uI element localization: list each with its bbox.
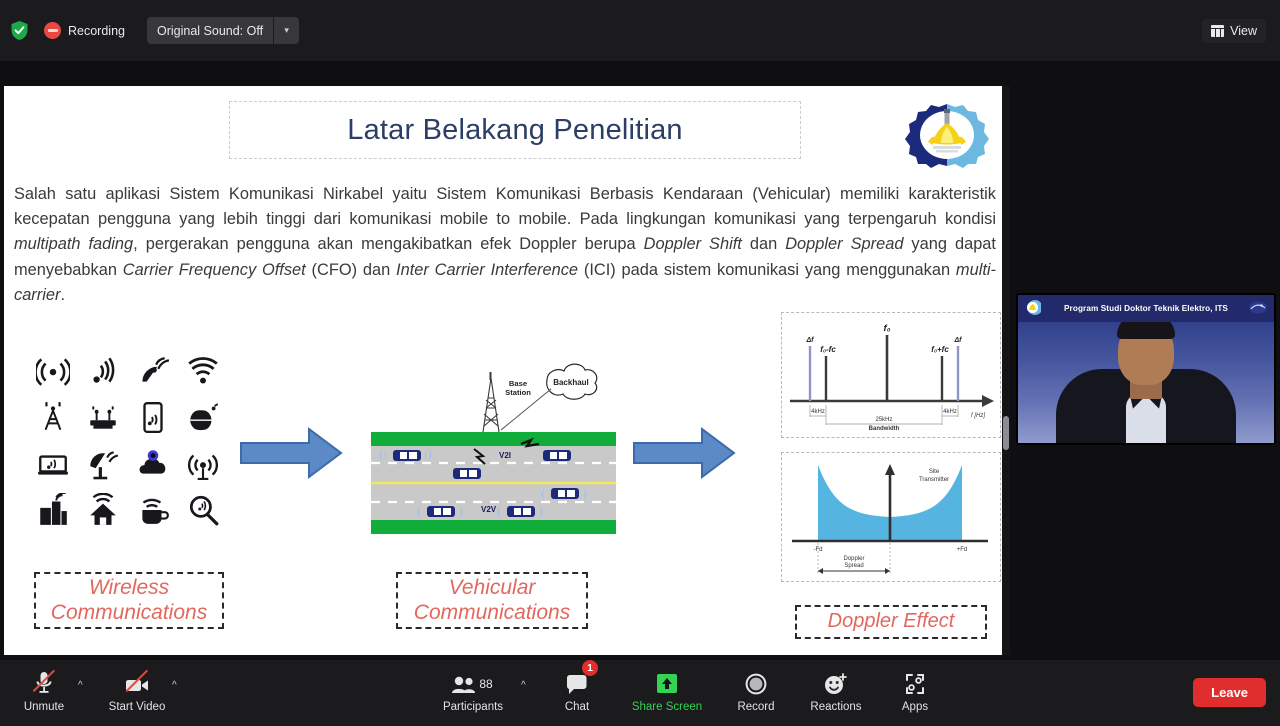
flow-arrow-right-2	[632, 425, 736, 486]
participants-label: Participants	[443, 701, 503, 713]
label-left-span: 4kHz	[811, 409, 825, 415]
body-run: (ICI) pada sistem komunikasi yang menggu…	[578, 261, 956, 279]
label-right-delta: Δf	[953, 337, 962, 344]
label-doppler-spread-2: Spread	[844, 563, 863, 569]
start-video-button[interactable]: Start Video	[94, 666, 180, 713]
body-run: .	[60, 286, 65, 304]
body-run: (CFO) dan	[306, 261, 396, 279]
label-axis: f [Hz]	[971, 413, 985, 419]
virtual-background-banner: Program Studi Doktor Teknik Elektro, ITS	[1018, 295, 1274, 322]
label-f0: f₀	[884, 323, 891, 334]
svg-text:Backhaul: Backhaul	[553, 378, 589, 387]
people-icon: 88	[450, 666, 496, 696]
caption-wireless-line2: Communications	[51, 601, 207, 624]
grid-view-icon	[1211, 25, 1224, 37]
vehicular-communication-diagram: Backhaul Base Station V2I V2V	[371, 356, 616, 534]
apps-button[interactable]: Apps	[872, 666, 958, 713]
search-signal-icon	[186, 493, 220, 527]
record-circle-icon	[744, 666, 768, 696]
label-bandwidth-value: 25kHz	[875, 417, 892, 423]
video-options-caret[interactable]: ^	[172, 680, 177, 691]
reactions-button[interactable]: Reactions	[793, 666, 879, 713]
chat-button[interactable]: 1 Chat	[534, 666, 620, 713]
body-emphasis: Inter Carrier Interference	[396, 261, 578, 279]
label-right-span: 4kHz	[943, 409, 957, 415]
share-screen-icon	[654, 666, 680, 696]
slide-body-text: Salah satu aplikasi Sistem Komunikasi Ni…	[14, 182, 996, 308]
body-emphasis: Doppler Shift	[644, 235, 742, 253]
recording-status[interactable]: Recording	[44, 22, 125, 39]
home-wifi-icon	[86, 493, 120, 527]
cloud-network-icon	[136, 447, 170, 481]
scrollbar-thumb[interactable]	[1003, 416, 1009, 450]
zoom-meeting-window: Recording Original Sound: Off ▾ View Lat…	[0, 0, 1280, 726]
body-run: Salah satu aplikasi Sistem Komunikasi Ni…	[14, 185, 996, 228]
label-left-delta: Δf	[805, 337, 814, 344]
body-emphasis: Doppler Spread	[785, 235, 903, 253]
body-run: , pergerakan pengguna akan mengakibatkan…	[133, 235, 643, 253]
satellite-dish-icon	[136, 354, 170, 388]
participants-button[interactable]: 88 Participants	[430, 666, 516, 713]
slide-scrollbar[interactable]	[1002, 86, 1010, 655]
speaker-video-tile[interactable]: Program Studi Doktor Teknik Elektro, ITS	[1016, 293, 1276, 445]
svg-text:Base: Base	[509, 379, 527, 388]
participants-count: 88	[479, 677, 493, 691]
caption-doppler-label: Doppler Effect	[828, 610, 955, 634]
apps-bracket-icon	[903, 666, 927, 696]
share-screen-button[interactable]: Share Screen	[624, 666, 710, 713]
smartphone-wifi-icon	[136, 400, 170, 434]
unmute-button[interactable]: Unmute	[1, 666, 87, 713]
slide-title-box: Latar Belakang Penelitian	[229, 101, 801, 159]
body-emphasis: multipath fading	[14, 235, 133, 253]
doppler-spectrum-chart: Δf Δf f₀-fс f₀+fс f₀ 4kHz 4kHz 25kHz Ban…	[781, 312, 1001, 438]
view-button[interactable]: View	[1202, 19, 1266, 43]
city-buildings-icon	[36, 493, 70, 527]
broadcast-tower-icon	[186, 447, 220, 481]
leave-button[interactable]: Leave	[1193, 678, 1266, 707]
coffee-cup-wifi-icon	[136, 493, 170, 527]
globe-signal-icon	[186, 400, 220, 434]
wireless-icons-panel	[28, 348, 228, 533]
participants-options-caret[interactable]: ^	[521, 680, 526, 691]
flow-arrow-right-1	[239, 425, 343, 486]
caption-vehicular-communications: Vehicular Communications	[396, 572, 588, 629]
slide-title: Latar Belakang Penelitian	[347, 114, 683, 147]
label-site-transmitter-2: Transmitter	[919, 477, 949, 483]
department-logo-small	[1248, 300, 1268, 315]
meeting-top-bar: Recording Original Sound: Off ▾ View	[0, 0, 1280, 61]
chat-label: Chat	[565, 701, 589, 713]
camera-muted-icon	[124, 666, 150, 696]
share-screen-label: Share Screen	[632, 701, 702, 713]
body-emphasis: Carrier Frequency Offset	[123, 261, 306, 279]
caption-vehicular-line1: Vehicular	[449, 576, 536, 599]
chat-unread-badge: 1	[582, 660, 598, 676]
original-sound-control[interactable]: Original Sound: Off ▾	[147, 17, 299, 44]
svg-text:V2I: V2I	[499, 451, 511, 460]
label-plus-fd: +Fd	[957, 547, 968, 553]
caption-vehicular-line2: Communications	[414, 601, 570, 624]
caption-wireless-communications: Wireless Communications	[34, 572, 224, 629]
reactions-label: Reactions	[810, 701, 861, 713]
its-logo-small	[1024, 299, 1041, 316]
recording-indicator-icon	[44, 22, 61, 39]
meeting-control-bar: Unmute ^ Start Video ^ 88	[0, 660, 1280, 726]
recording-label: Recording	[68, 24, 125, 38]
wifi-icon	[186, 354, 220, 388]
record-button[interactable]: Record	[713, 666, 799, 713]
antenna-waves-icon	[36, 354, 70, 388]
svg-text:Station: Station	[505, 388, 531, 397]
parabolic-dish-icon	[86, 447, 120, 481]
its-university-logo	[900, 102, 994, 168]
cell-tower-icon	[36, 400, 70, 434]
virtual-background-text: Program Studi Doktor Teknik Elektro, ITS	[1064, 304, 1228, 313]
chevron-down-icon[interactable]: ▾	[273, 17, 299, 44]
svg-text:V2V: V2V	[481, 505, 497, 514]
label-left-peak: f₀-fс	[820, 345, 836, 354]
shield-check-icon[interactable]	[10, 20, 29, 41]
record-label: Record	[737, 701, 774, 713]
audio-options-caret[interactable]: ^	[78, 680, 83, 691]
doppler-spread-chart: Site Transmitter -Fd +Fd Doppler Spread	[781, 452, 1001, 582]
label-site-transmitter-1: Site	[929, 469, 940, 475]
start-video-label: Start Video	[109, 701, 166, 713]
label-right-peak: f₀+fс	[931, 345, 949, 354]
smiley-reaction-icon	[823, 666, 849, 696]
chat-bubble-icon: 1	[565, 666, 589, 696]
laptop-wifi-icon	[36, 447, 70, 481]
apps-label: Apps	[902, 701, 928, 713]
view-label: View	[1230, 24, 1257, 38]
unmute-label: Unmute	[24, 701, 64, 713]
original-sound-label: Original Sound: Off	[147, 17, 273, 44]
router-icon	[86, 400, 120, 434]
label-bandwidth: Bandwidth	[869, 426, 900, 432]
caption-wireless-line1: Wireless	[89, 576, 169, 599]
microphone-muted-icon	[33, 666, 55, 696]
signal-bars-icon	[86, 354, 120, 388]
shared-screen-slide[interactable]: Latar Belakang Penelitian	[4, 86, 1010, 655]
caption-doppler-effect: Doppler Effect	[795, 605, 987, 639]
body-run: dan	[742, 235, 785, 253]
label-doppler-spread-1: Doppler	[843, 556, 864, 562]
